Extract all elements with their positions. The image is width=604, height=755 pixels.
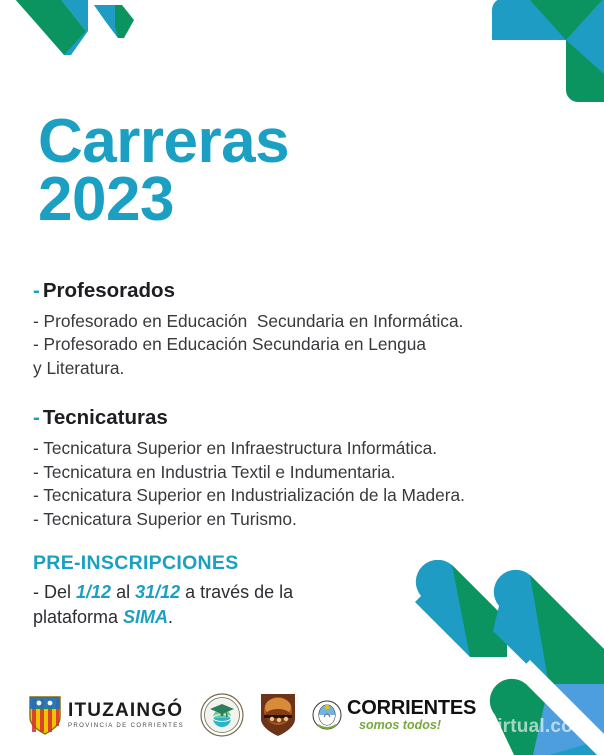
instituto-circular-emblem-icon bbox=[200, 693, 244, 737]
instituto-emblem-logo bbox=[200, 693, 244, 737]
section-heading-profesorados: -Profesorados bbox=[33, 278, 593, 304]
ituzaingo-text: ITUZAINGÓ PROVINCIA DE CORRIENTES bbox=[68, 701, 184, 729]
list-item: - Tecnicatura Superior en Infraestructur… bbox=[33, 437, 593, 460]
ituzaingo-title: ITUZAINGÓ bbox=[68, 701, 184, 720]
corrientes-text: CORRIENTES somos todos! bbox=[347, 698, 476, 732]
ituzaingo-subtitle: PROVINCIA DE CORRIENTES bbox=[68, 723, 184, 729]
top-right-block-decoration bbox=[492, 0, 604, 102]
ituzaingo-shield-icon bbox=[28, 694, 62, 736]
footer-logos: ITUZAINGÓ PROVINCIA DE CORRIENTES bbox=[28, 687, 476, 743]
escudo-shield-emblem-icon bbox=[260, 693, 296, 737]
preinscripciones-prefix: - Del bbox=[33, 582, 76, 602]
date-to: 31/12 bbox=[135, 582, 180, 602]
escudo-emblem-logo bbox=[260, 693, 296, 737]
preinscripciones-middle: al bbox=[111, 582, 135, 602]
corrientes-crest-icon bbox=[312, 697, 342, 733]
title-line-year: 2023 bbox=[38, 171, 289, 229]
preinscripciones-body: - Del 1/12 al 31/12 a través de laplataf… bbox=[33, 580, 383, 630]
section-heading-label: Profesorados bbox=[43, 279, 175, 302]
section-list-profesorados: - Profesorado en Educación Secundaria en… bbox=[33, 310, 593, 380]
list-item: - Profesorado en Educación Secundaria en… bbox=[33, 310, 593, 333]
list-item: - Profesorado en Educación Secundaria en… bbox=[33, 333, 593, 356]
preinscripciones-suffix: a través de la bbox=[180, 582, 293, 602]
preinscripciones-line2-prefix: plataforma bbox=[33, 607, 123, 627]
list-item: - Tecnicatura Superior en Industrializac… bbox=[33, 484, 593, 507]
section-spacer bbox=[33, 532, 593, 552]
section-heading-label: Tecnicaturas bbox=[43, 406, 168, 429]
list-item: - Tecnicatura en Industria Textil e Indu… bbox=[33, 461, 593, 484]
title-line-carreras: Carreras bbox=[38, 113, 289, 171]
ituzaingo-logo: ITUZAINGÓ PROVINCIA DE CORRIENTES bbox=[28, 694, 184, 736]
section-list-tecnicaturas: - Tecnicatura Superior en Infraestructur… bbox=[33, 437, 593, 531]
list-item: y Literatura. bbox=[33, 357, 593, 380]
date-from: 1/12 bbox=[76, 582, 111, 602]
page-title: Carreras 2023 bbox=[38, 113, 289, 228]
corrientes-title: CORRIENTES bbox=[347, 698, 476, 718]
platform-name: SIMA bbox=[123, 607, 168, 627]
poster-canvas: Carreras 2023 -Profesorados - Profesorad… bbox=[0, 0, 604, 755]
list-item: - Tecnicatura Superior en Turismo. bbox=[33, 508, 593, 531]
corrientes-logo: CORRIENTES somos todos! bbox=[312, 697, 476, 733]
top-left-chevron-decoration bbox=[14, 0, 134, 64]
section-heading-tecnicaturas: -Tecnicaturas bbox=[33, 405, 593, 431]
section-dash-icon: - bbox=[33, 279, 40, 302]
corrientes-subtitle: somos todos! bbox=[359, 719, 476, 732]
section-dash-icon: - bbox=[33, 406, 40, 429]
section-spacer bbox=[33, 381, 593, 405]
preinscripciones-line2-suffix: . bbox=[168, 607, 173, 627]
